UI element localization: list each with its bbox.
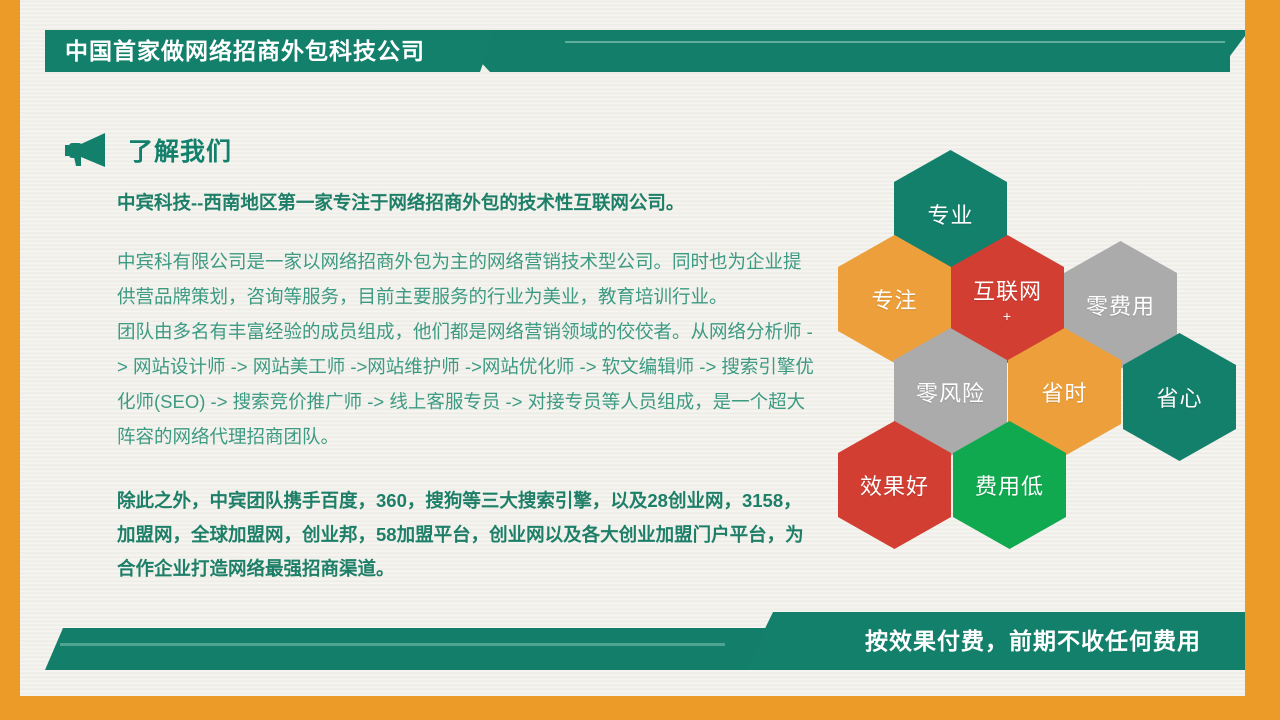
megaphone-icon: [64, 132, 110, 168]
hexagon-sublabel: +: [1003, 308, 1012, 324]
footer-tagline: 按效果付费，前期不收任何费用: [865, 612, 1201, 670]
footer-hairline-divider: [60, 643, 725, 646]
hexagon-label: 专业: [927, 198, 973, 230]
hexagon-label: 省心: [1156, 381, 1202, 413]
slide-canvas: 中国首家做网络招商外包科技公司 了解我们 中宾科技--西南地区第一家专注于网络招…: [20, 0, 1245, 696]
hexagon-label: 省时: [1041, 376, 1087, 408]
header-banner: 中国首家做网络招商外包科技公司: [20, 30, 1245, 72]
hexagon-label: 费用低: [975, 469, 1044, 501]
section-heading: 了解我们: [64, 132, 232, 168]
hexagon-label: 专注: [871, 283, 917, 315]
closing-paragraph: 除此之外，中宾团队携手百度，360，搜狗等三大搜索引擎，以及28创业网，3158…: [117, 484, 817, 586]
hexagon-label: 零风险: [916, 376, 985, 408]
paragraph-one: 中宾科有限公司是一家以网络招商外包为主的网络营销技术型公司。同时也为企业提供营品…: [117, 244, 817, 314]
page-title: 中国首家做网络招商外包科技公司: [65, 30, 425, 72]
section-heading-label: 了解我们: [128, 132, 232, 168]
hexagon-label: 效果好: [860, 469, 929, 501]
paragraph-two: 团队由多名有丰富经验的成员组成，他们都是网络营销领域的佼佼者。从网络分析师 ->…: [117, 314, 817, 454]
hexagon-label: 互联网: [973, 274, 1042, 306]
about-us-text-block: 中宾科技--西南地区第一家专注于网络招商外包的技术性互联网公司。 中宾科有限公司…: [117, 188, 817, 586]
header-hairline-divider: [565, 41, 1225, 43]
hexagon-label: 零费用: [1086, 289, 1155, 321]
lead-paragraph: 中宾科技--西南地区第一家专注于网络招商外包的技术性互联网公司。: [117, 188, 817, 218]
footer-banner: 按效果付费，前期不收任何费用: [20, 612, 1245, 670]
